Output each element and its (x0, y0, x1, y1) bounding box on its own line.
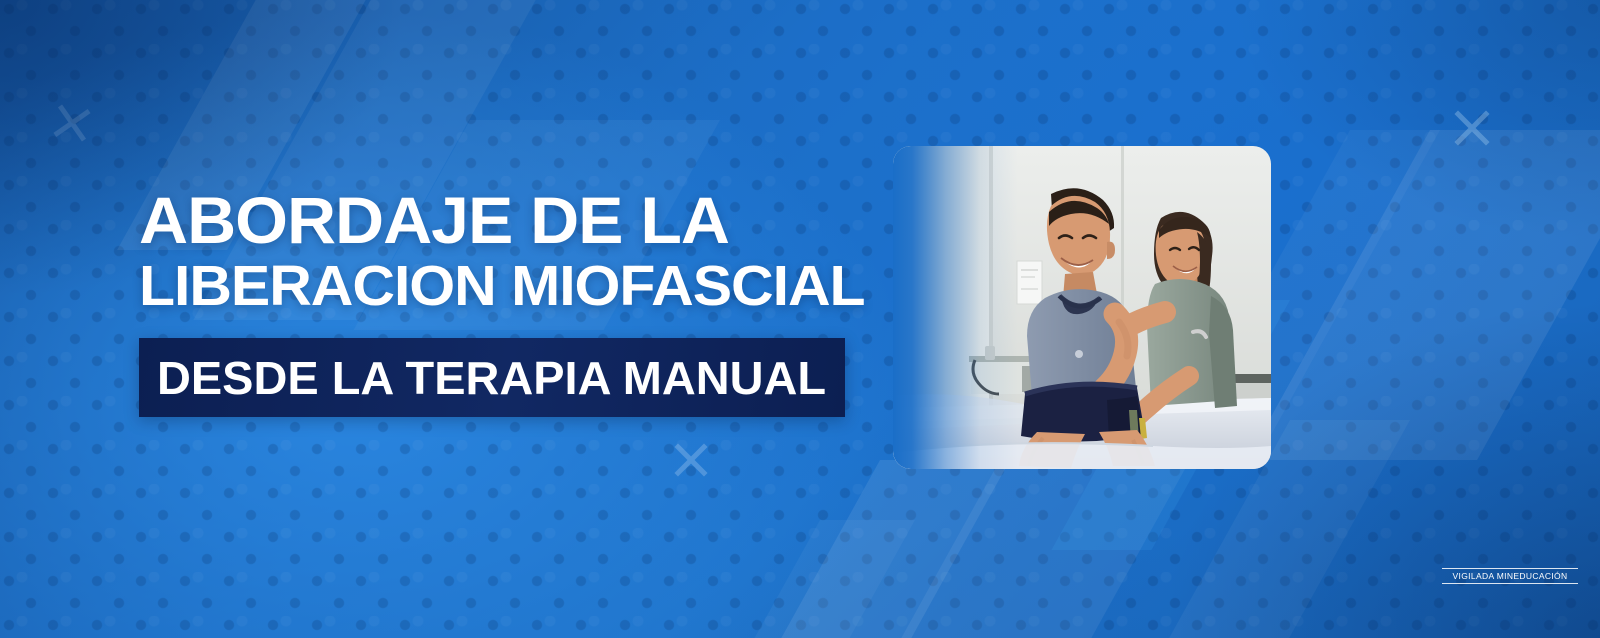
therapy-photo-illustration (893, 146, 1271, 469)
headline-block: ABORDAJE DE LA LIBERACION MIOFASCIAL (139, 188, 859, 315)
highlight-dot-texture (0, 0, 1600, 638)
headline-line-3: DESDE LA TERAPIA MANUAL (157, 351, 826, 405)
diagonal-band (753, 460, 1010, 638)
badge-rule-bottom (1442, 583, 1578, 585)
headline-line-1: ABORDAJE DE LA (139, 188, 881, 253)
diagonal-band-group (0, 0, 1600, 638)
promo-banner: ABORDAJE DE LA LIBERACION MIOFASCIAL DES… (0, 0, 1600, 638)
diagonal-band (726, 520, 915, 638)
vignette-overlay (0, 0, 1600, 638)
hero-photo (893, 146, 1271, 469)
badge-label: VIGILADA MINEDUCACIÓN (1442, 569, 1578, 583)
hexagon-dot-texture (0, 0, 1600, 638)
cross-icon (1451, 107, 1493, 149)
diagonal-band (1247, 130, 1600, 460)
cross-icon (52, 103, 92, 143)
status-badge: VIGILADA MINEDUCACIÓN (1442, 568, 1578, 585)
subtitle-bar: DESDE LA TERAPIA MANUAL (139, 338, 845, 417)
headline-line-2: LIBERACION MIOFASCIAL (139, 259, 884, 315)
cross-icon (671, 440, 711, 480)
diagonal-band (873, 460, 1190, 638)
